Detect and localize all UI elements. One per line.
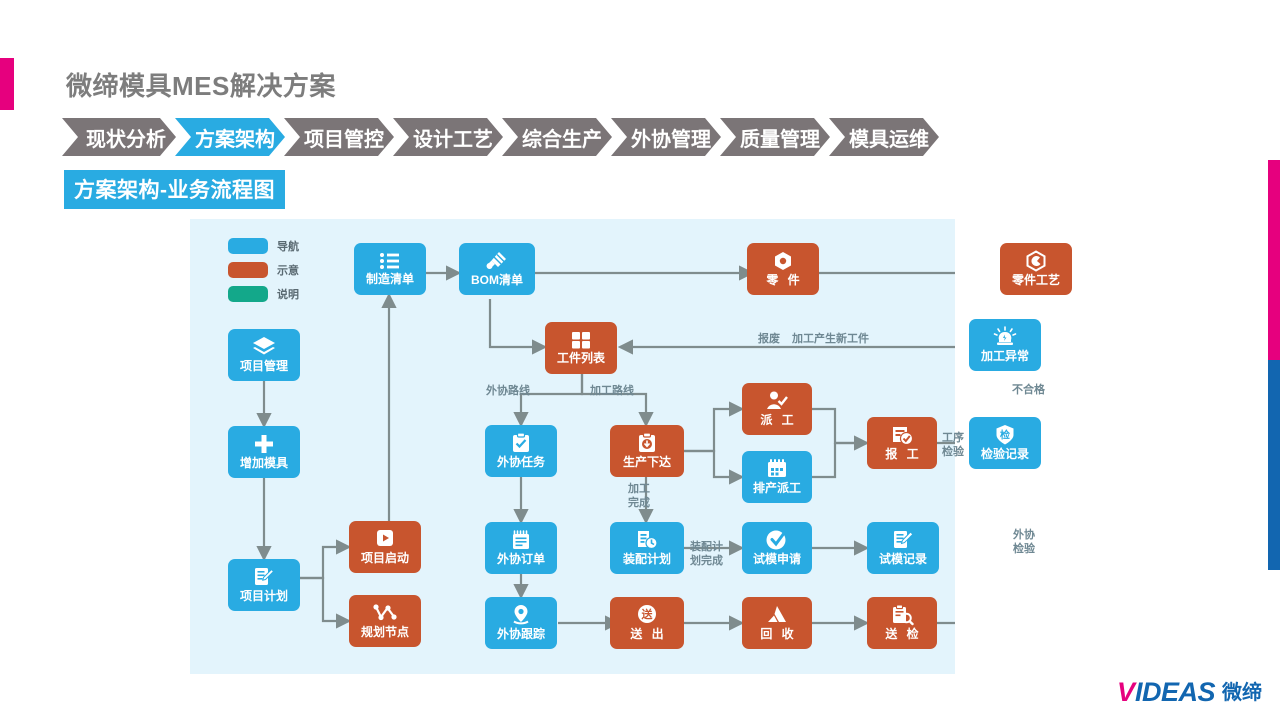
section-title: 方案架构-业务流程图	[64, 170, 285, 209]
link-chain-icon	[485, 250, 509, 272]
edge-label-scrap: 报废	[758, 333, 780, 347]
legend-label-navigation: 导航	[277, 238, 299, 254]
clipboard-down-icon	[636, 432, 658, 454]
node-label: 派 工	[757, 414, 796, 427]
alarm-icon	[992, 326, 1018, 348]
node-machining-exception[interactable]: 加工异常	[969, 319, 1041, 371]
node-bom-list[interactable]: BOM清单	[459, 243, 535, 295]
edge-label-outsourcing-inspect: 外协 检验	[1013, 529, 1035, 557]
node-trial-record[interactable]: 试模记录	[867, 522, 939, 574]
node-label: 外协订单	[497, 553, 545, 566]
grid-icon	[570, 330, 592, 350]
shield-check-icon: 检	[994, 424, 1016, 446]
hex-gear-icon	[1024, 250, 1048, 272]
node-label: 规划节点	[361, 626, 409, 639]
edge-label-unqualified: 不合格	[1012, 384, 1045, 398]
node-send-inspect[interactable]: 送 检	[867, 597, 937, 649]
business-flow-diagram: 导航 示意 说明 项目管理 增加模具 项目计划 项目启动	[190, 219, 955, 674]
node-recycle[interactable]: 回 收	[742, 597, 812, 649]
node-label: BOM清单	[471, 274, 523, 287]
node-label: 外协任务	[497, 456, 545, 469]
node-dispatch[interactable]: 派 工	[742, 383, 812, 435]
node-trial-request[interactable]: 试模申请	[742, 522, 812, 574]
location-pin-icon	[510, 604, 532, 626]
node-assembly-plan[interactable]: 装配计划	[610, 522, 684, 574]
clipboard-check-icon	[510, 432, 532, 454]
node-production-release[interactable]: 生产下达	[610, 425, 684, 477]
plus-icon	[252, 433, 276, 455]
node-label: 零件工艺	[1012, 274, 1060, 287]
node-label: 加工异常	[981, 350, 1029, 363]
left-accent-bar	[0, 58, 14, 110]
svg-text:送: 送	[641, 607, 654, 621]
node-label: 试模申请	[753, 553, 801, 566]
node-label: 零 件	[763, 274, 802, 287]
legend-item-navigation: 导航	[228, 238, 299, 254]
node-part-process[interactable]: 零件工艺	[1000, 243, 1072, 295]
right-accent-bar-bottom	[1268, 360, 1280, 570]
nav-tab-fanganjiagou[interactable]: 方案架构	[175, 118, 285, 156]
calendar-icon	[766, 458, 788, 480]
brand-logo: V IDEAS 微缔	[1117, 679, 1262, 706]
logo-chinese-name: 微缔	[1222, 683, 1262, 703]
nav-tab-zhiliangguanli[interactable]: 质量管理	[720, 118, 830, 156]
edit-doc-icon	[252, 566, 276, 588]
node-project-management[interactable]: 项目管理	[228, 329, 300, 381]
edge-label-machining-route: 加工路线	[590, 385, 634, 399]
node-label: 试模记录	[879, 553, 927, 566]
nav-tab-mojuyunwei[interactable]: 模具运维	[829, 118, 939, 156]
node-add-mold[interactable]: 增加模具	[228, 426, 300, 478]
logo-v-mark: V	[1117, 679, 1135, 706]
node-outsourcing-task[interactable]: 外协任务	[485, 425, 557, 477]
node-label: 排产派工	[753, 482, 801, 495]
legend-item-illustration: 示意	[228, 262, 299, 278]
node-label: 外协跟踪	[497, 628, 545, 641]
edge-label-outsourcing-route: 外协路线	[486, 385, 530, 399]
node-label: 检验记录	[981, 448, 1029, 461]
nav-tab-xianzhuangfenxi[interactable]: 现状分析	[62, 118, 176, 156]
node-label: 送 检	[882, 628, 921, 641]
node-label: 装配计划	[623, 553, 671, 566]
svg-text:检: 检	[1000, 429, 1010, 442]
node-label: 项目启动	[361, 552, 409, 565]
triangle-recycle-icon	[765, 604, 789, 626]
node-project-start[interactable]: 项目启动	[349, 521, 421, 573]
node-work-report[interactable]: 报 工	[867, 417, 937, 469]
edge-label-machining-done: 加工 完成	[628, 483, 650, 511]
node-workpiece-list[interactable]: 工件列表	[545, 322, 617, 374]
legend-swatch-illustration	[228, 262, 268, 278]
legend-item-description: 说明	[228, 286, 299, 302]
person-check-icon	[765, 390, 789, 412]
node-send-out[interactable]: 送 送 出	[610, 597, 684, 649]
nav-tab-waixieguanli[interactable]: 外协管理	[611, 118, 721, 156]
report-check-icon	[890, 424, 914, 446]
node-label: 制造清单	[366, 273, 414, 286]
node-label: 项目管理	[240, 360, 288, 373]
nav-tab-shejigongyi[interactable]: 设计工艺	[393, 118, 503, 156]
edge-label-process-inspect: 工序 检验	[942, 432, 964, 460]
clipboard-search-icon	[890, 604, 914, 626]
chevron-nav: 现状分析 方案架构 项目管控 设计工艺 综合生产 外协管理 质量管理 模具运维	[62, 118, 938, 156]
node-inspection-record[interactable]: 检 检验记录	[969, 417, 1041, 469]
right-accent-bar-top	[1268, 160, 1280, 360]
node-label: 送 出	[627, 628, 666, 641]
send-circle-icon: 送	[636, 604, 658, 626]
nav-tab-xiangmuguankong[interactable]: 项目管控	[284, 118, 394, 156]
node-label: 增加模具	[240, 457, 288, 470]
hex-nut-icon	[771, 250, 795, 272]
layers-icon	[252, 336, 276, 358]
node-label: 工件列表	[557, 352, 605, 365]
node-schedule-dispatch[interactable]: 排产派工	[742, 451, 812, 503]
notepad-icon	[510, 529, 532, 551]
edit-list-icon	[891, 529, 915, 551]
logo-wordmark: IDEAS	[1135, 679, 1215, 706]
node-label: 项目计划	[240, 590, 288, 603]
flow-connectors	[190, 219, 955, 674]
page-title: 微缔模具MES解决方案	[66, 66, 336, 103]
node-label: 回 收	[757, 628, 796, 641]
node-manufacture-list[interactable]: 制造清单	[354, 243, 426, 295]
legend-label-illustration: 示意	[277, 262, 299, 278]
check-circle-icon	[765, 529, 789, 551]
node-outsourcing-order[interactable]: 外协订单	[485, 522, 557, 574]
node-outsourcing-track[interactable]: 外协跟踪	[485, 597, 557, 649]
legend-swatch-navigation	[228, 238, 268, 254]
node-label: 生产下达	[623, 456, 671, 469]
node-part[interactable]: 零 件	[747, 243, 819, 295]
node-label: 报 工	[882, 448, 921, 461]
play-icon	[373, 528, 397, 550]
legend-swatch-description	[228, 286, 268, 302]
edge-label-assembly-done: 装配计 划完成	[690, 541, 723, 569]
legend-label-description: 说明	[277, 286, 299, 302]
list-icon	[378, 251, 402, 271]
edge-label-machining-new-part: 加工产生新工件	[792, 333, 869, 347]
node-project-plan[interactable]: 项目计划	[228, 559, 300, 611]
node-plan-node[interactable]: 规划节点	[349, 595, 421, 647]
nav-tab-zongheshengchan[interactable]: 综合生产	[502, 118, 612, 156]
doc-clock-icon	[635, 529, 659, 551]
node-graph-icon	[372, 602, 398, 624]
